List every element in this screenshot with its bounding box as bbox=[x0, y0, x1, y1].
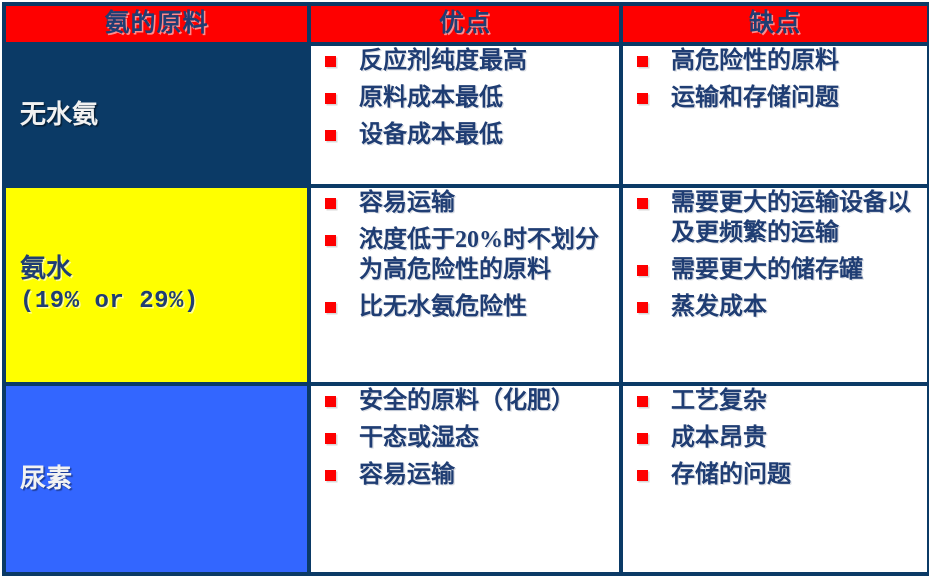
disadvantages-cell-urea: 工艺复杂 成本昂贵 存储的问题 bbox=[621, 384, 929, 574]
advantages-cell-anhydrous-ammonia: 反应剂纯度最高 原料成本最低 设备成本最低 bbox=[309, 44, 621, 186]
list-item: 安全的原料（化肥） bbox=[311, 386, 619, 416]
disadvantages-cell-anhydrous-ammonia: 高危险性的原料 运输和存储问题 bbox=[621, 44, 929, 186]
bullet-square-icon bbox=[637, 396, 648, 407]
list-item-label: 反应剂纯度最高 bbox=[359, 46, 619, 76]
list-item-label: 原料成本最低 bbox=[359, 83, 619, 113]
list-item-label: 存储的问题 bbox=[671, 460, 927, 490]
material-label-aqueous-ammonia: 氨水 (19% or 29%) bbox=[20, 218, 199, 352]
list-item-label: 成本昂贵 bbox=[671, 423, 927, 453]
list-item-label: 安全的原料（化肥） bbox=[359, 386, 619, 416]
bullet-square-icon bbox=[637, 433, 648, 444]
list-item: 成本昂贵 bbox=[623, 423, 927, 453]
bullet-square-icon bbox=[325, 198, 336, 209]
list-item: 需要更大的储存罐 bbox=[623, 255, 927, 285]
list-item-label: 工艺复杂 bbox=[671, 386, 927, 416]
header-cell-advantages: 优点 bbox=[309, 4, 621, 44]
list-item-label: 比无水氨危险性 bbox=[359, 292, 619, 322]
bullet-square-icon bbox=[325, 396, 336, 407]
list-item-label: 需要更大的运输设备以及更频繁的运输 bbox=[671, 188, 927, 248]
list-item-label: 设备成本最低 bbox=[359, 120, 619, 150]
bullet-square-icon bbox=[325, 56, 336, 67]
material-cell-aqueous-ammonia: 氨水 (19% or 29%) bbox=[4, 186, 309, 384]
list-item-label: 浓度低于20%时不划分为高危险性的原料 bbox=[359, 225, 619, 285]
bullet-square-icon bbox=[325, 235, 336, 246]
disadvantages-list: 需要更大的运输设备以及更频繁的运输 需要更大的储存罐 蒸发成本 bbox=[623, 188, 927, 322]
bullet-square-icon bbox=[325, 130, 336, 141]
bullet-square-icon bbox=[637, 198, 648, 209]
bullet-square-icon bbox=[637, 302, 648, 313]
list-item: 比无水氨危险性 bbox=[311, 292, 619, 322]
list-item-label: 容易运输 bbox=[359, 188, 619, 218]
advantages-cell-aqueous-ammonia: 容易运输 浓度低于20%时不划分为高危险性的原料 比无水氨危险性 bbox=[309, 186, 621, 384]
list-item: 存储的问题 bbox=[623, 460, 927, 490]
list-item: 需要更大的运输设备以及更频繁的运输 bbox=[623, 188, 927, 248]
list-item: 原料成本最低 bbox=[311, 83, 619, 113]
table-row: 无水氨 反应剂纯度最高 原料成本最低 设备成本最低 bbox=[4, 44, 929, 186]
material-concentration-text: (19% or 29%) bbox=[20, 286, 199, 318]
ammonia-feedstock-comparison-table: 氨的原料 优点 缺点 无水氨 反应剂纯度最高 bbox=[2, 2, 929, 576]
table-row: 氨水 (19% or 29%) 容易运输 浓度低于20%时不划分为高危险性的原料 bbox=[4, 186, 929, 384]
advantages-list: 容易运输 浓度低于20%时不划分为高危险性的原料 比无水氨危险性 bbox=[311, 188, 619, 322]
bullet-square-icon bbox=[637, 265, 648, 276]
material-cell-urea: 尿素 bbox=[4, 384, 309, 574]
table-header-row: 氨的原料 优点 缺点 bbox=[4, 4, 929, 44]
advantages-list: 反应剂纯度最高 原料成本最低 设备成本最低 bbox=[311, 46, 619, 150]
material-label-anhydrous-ammonia: 无水氨 bbox=[20, 98, 98, 132]
material-label-urea: 尿素 bbox=[20, 462, 72, 496]
advantages-list: 安全的原料（化肥） 干态或湿态 容易运输 bbox=[311, 386, 619, 490]
list-item: 容易运输 bbox=[311, 460, 619, 490]
bullet-square-icon bbox=[325, 433, 336, 444]
list-item: 浓度低于20%时不划分为高危险性的原料 bbox=[311, 225, 619, 285]
material-cell-anhydrous-ammonia: 无水氨 bbox=[4, 44, 309, 186]
list-item-label: 需要更大的储存罐 bbox=[671, 255, 927, 285]
table-row: 尿素 安全的原料（化肥） 干态或湿态 容易运输 bbox=[4, 384, 929, 574]
list-item: 干态或湿态 bbox=[311, 423, 619, 453]
bullet-square-icon bbox=[637, 56, 648, 67]
bullet-square-icon bbox=[637, 470, 648, 481]
list-item: 工艺复杂 bbox=[623, 386, 927, 416]
list-item-label: 运输和存储问题 bbox=[671, 83, 927, 113]
list-item: 反应剂纯度最高 bbox=[311, 46, 619, 76]
comparison-table-container: 氨的原料 优点 缺点 无水氨 反应剂纯度最高 bbox=[0, 0, 929, 575]
list-item-label: 干态或湿态 bbox=[359, 423, 619, 453]
bullet-square-icon bbox=[325, 93, 336, 104]
list-item: 蒸发成本 bbox=[623, 292, 927, 322]
disadvantages-list: 工艺复杂 成本昂贵 存储的问题 bbox=[623, 386, 927, 490]
bullet-square-icon bbox=[637, 93, 648, 104]
header-advantages-label: 优点 bbox=[311, 9, 619, 39]
list-item: 高危险性的原料 bbox=[623, 46, 927, 76]
header-cell-raw-material: 氨的原料 bbox=[4, 4, 309, 44]
list-item: 运输和存储问题 bbox=[623, 83, 927, 113]
list-item: 设备成本最低 bbox=[311, 120, 619, 150]
list-item-label: 蒸发成本 bbox=[671, 292, 927, 322]
bullet-square-icon bbox=[325, 302, 336, 313]
list-item: 容易运输 bbox=[311, 188, 619, 218]
material-name-text: 氨水 bbox=[20, 254, 72, 283]
header-disadvantages-label: 缺点 bbox=[623, 9, 927, 39]
disadvantages-cell-aqueous-ammonia: 需要更大的运输设备以及更频繁的运输 需要更大的储存罐 蒸发成本 bbox=[621, 186, 929, 384]
bullet-square-icon bbox=[325, 470, 336, 481]
list-item-label: 高危险性的原料 bbox=[671, 46, 927, 76]
advantages-cell-urea: 安全的原料（化肥） 干态或湿态 容易运输 bbox=[309, 384, 621, 574]
header-raw-material-label: 氨的原料 bbox=[6, 9, 307, 39]
list-item-label: 容易运输 bbox=[359, 460, 619, 490]
disadvantages-list: 高危险性的原料 运输和存储问题 bbox=[623, 46, 927, 113]
header-cell-disadvantages: 缺点 bbox=[621, 4, 929, 44]
